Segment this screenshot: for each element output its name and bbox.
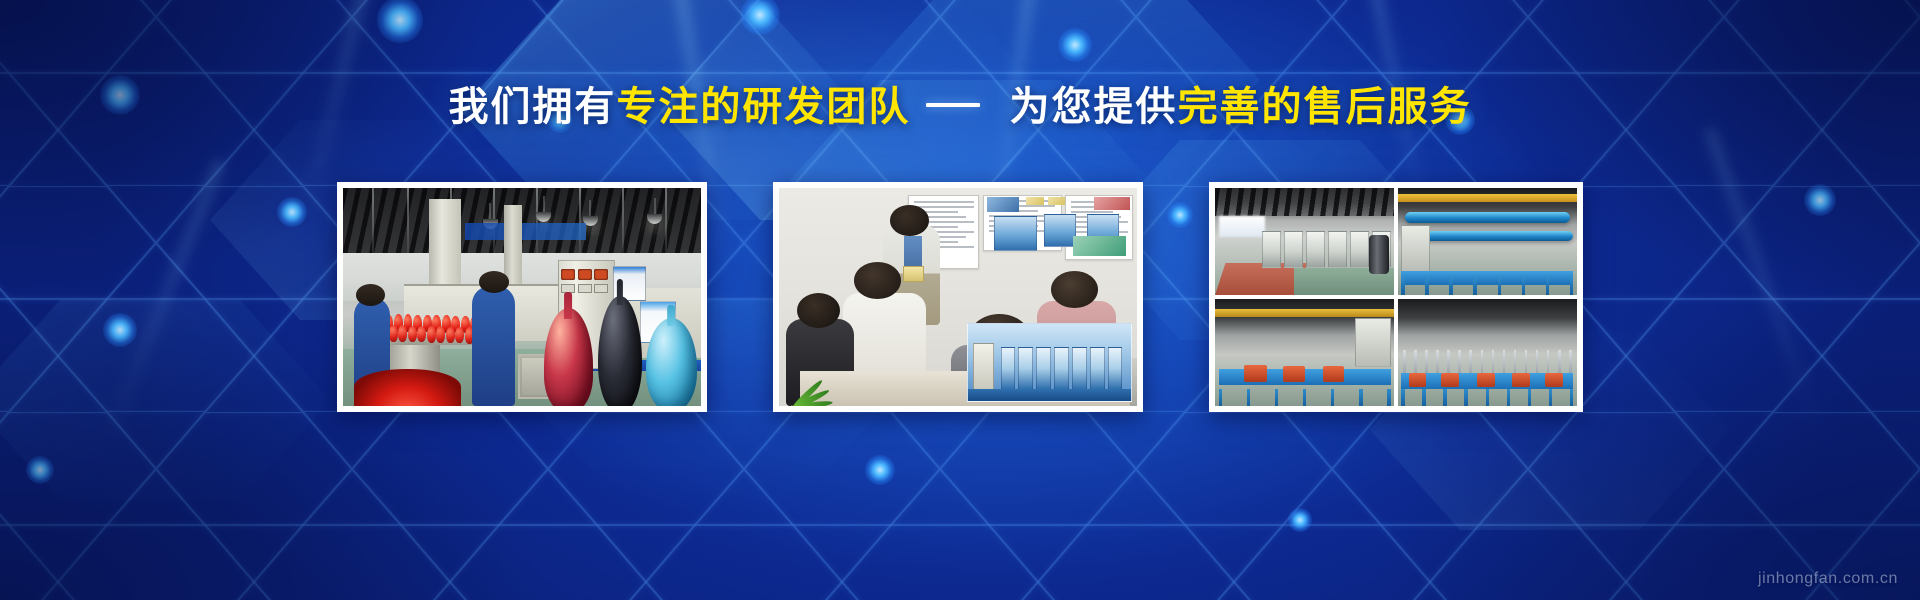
glass-vase-overlay: [540, 286, 701, 406]
photo-frame-equipment-composite[interactable]: [1209, 182, 1583, 412]
composite-quadrant-top-right: [1398, 188, 1577, 295]
headline-highlight-1: 专注的研发团队: [616, 85, 910, 129]
headline-segment-3: 为您提供: [996, 85, 1177, 129]
headline-highlight-2: 完善的售后服务: [1178, 85, 1472, 129]
vase-dark: [598, 296, 642, 406]
composite-quadrant-bottom-right: [1398, 299, 1577, 406]
headline-segment-1: 我们拥有: [448, 85, 616, 129]
composite-quadrant-bottom-left: [1215, 299, 1394, 406]
page-title: 我们拥有专注的研发团队 为您提供完善的售后服务: [0, 84, 1920, 131]
vase-blue: [646, 318, 697, 406]
photo-gallery: [0, 182, 1920, 412]
photo-production-line: [343, 188, 701, 406]
foreground-plant: [779, 328, 865, 406]
inset-machinery-photo: [967, 323, 1132, 401]
photo-technical-meeting: [779, 188, 1137, 406]
composite-quadrant-top-left: [1215, 188, 1394, 295]
photo-equipment-composite: [1215, 188, 1577, 406]
photo-frame-technical-meeting[interactable]: [773, 182, 1143, 412]
photo-frame-production-line[interactable]: [337, 182, 707, 412]
site-watermark: jinhongfan.com.cn: [1758, 570, 1898, 588]
promo-banner: 我们拥有专注的研发团队 为您提供完善的售后服务: [0, 0, 1920, 600]
vase-red: [544, 308, 593, 406]
headline-divider: [926, 103, 980, 107]
